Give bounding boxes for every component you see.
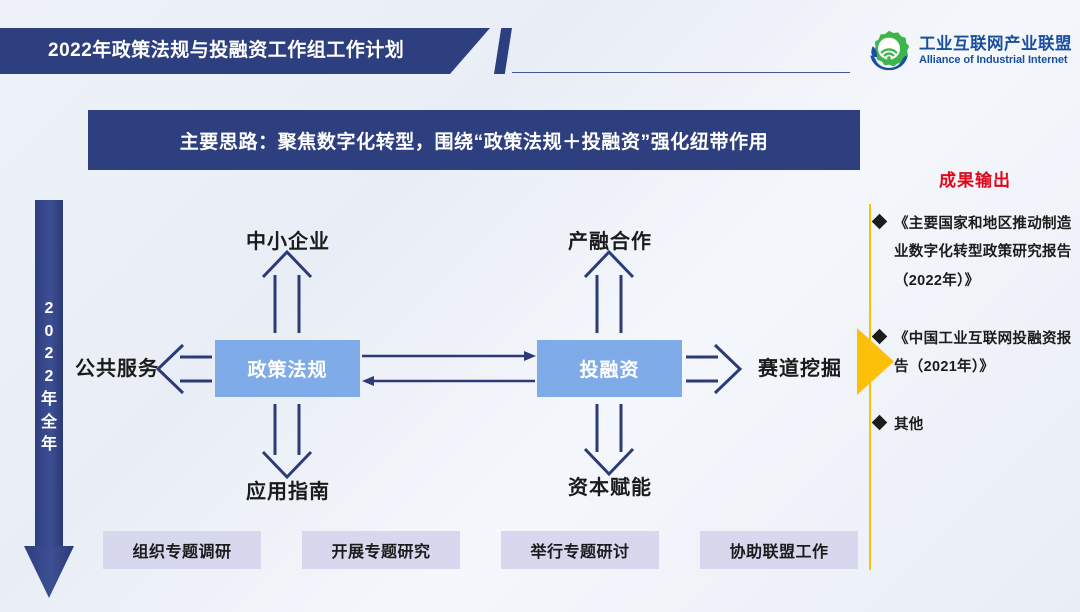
node-label-track: 赛道挖掘 xyxy=(744,352,856,381)
task-chip-label: 举行专题研讨 xyxy=(530,538,629,562)
output-item-text: 《中国工业互联网投融资报告（2021年）》 xyxy=(894,325,1076,382)
output-panel-title: 成果输出 xyxy=(874,166,1076,191)
arrow-invest-to-coop xyxy=(585,252,633,333)
diamond-bullet-icon xyxy=(872,214,888,230)
arrow-invest-to-policy xyxy=(362,376,535,386)
title-slash-accent xyxy=(494,28,512,74)
timeline-label: 2 0 2 2 年 全 年 xyxy=(35,298,63,457)
output-list-item[interactable]: 《中国工业互联网投融资报告（2021年）》 xyxy=(874,325,1076,382)
node-label-guide: 应用指南 xyxy=(217,475,359,504)
main-idea-text: 主要思路：聚焦数字化转型，围绕“政策法规＋投融资”强化纽带作用 xyxy=(180,127,769,154)
task-chip-label: 协助联盟工作 xyxy=(729,538,828,562)
diagram-box-policy[interactable]: 政策法规 xyxy=(215,340,360,397)
output-panel: 成果输出 《主要国家和地区推动制造业数字化转型政策研究报告（2022年）》 《中… xyxy=(874,166,1076,586)
logo-name-en: Alliance of Industrial Internet xyxy=(919,54,1072,67)
timeline-char: 0 xyxy=(35,321,63,344)
task-chip[interactable]: 举行专题研讨 xyxy=(501,531,659,569)
task-chip[interactable]: 协助联盟工作 xyxy=(700,531,858,569)
output-bullet-list: 《主要国家和地区推动制造业数字化转型政策研究报告（2022年）》 《中国工业互联… xyxy=(874,210,1076,470)
diagram-box-invest-label: 投融资 xyxy=(579,355,639,382)
header-divider-rule xyxy=(512,72,850,73)
arrow-invest-to-capital xyxy=(585,404,633,474)
page-title: 2022年政策法规与投融资工作组工作计划 xyxy=(48,28,404,74)
alliance-logo: 工业互联网产业联盟 Alliance of Industrial Interne… xyxy=(866,24,1066,78)
node-label-capital: 资本赋能 xyxy=(539,471,681,500)
output-list-item[interactable]: 其他 xyxy=(874,411,1076,439)
main-idea-banner: 主要思路：聚焦数字化转型，围绕“政策法规＋投融资”强化纽带作用 xyxy=(88,110,860,170)
timeline-arrow-head xyxy=(24,546,74,598)
vertical-divider-line xyxy=(869,204,871,570)
logo-wordmark: 工业互联网产业联盟 Alliance of Industrial Interne… xyxy=(919,35,1072,67)
task-chip[interactable]: 组织专题调研 xyxy=(103,531,261,569)
arrow-policy-to-sme xyxy=(263,252,311,333)
diamond-bullet-icon xyxy=(872,329,888,345)
timeline-char: 2 xyxy=(35,298,63,321)
gear-wifi-logo-icon xyxy=(866,28,912,74)
timeline-down-arrow-icon: 2 0 2 2 年 全 年 xyxy=(24,200,74,598)
timeline-char: 年 xyxy=(35,389,63,412)
node-label-sme: 中小企业 xyxy=(217,225,359,254)
slide-canvas: 2022年政策法规与投融资工作组工作计划 工业互联网产业联盟 Alliance … xyxy=(0,0,1080,612)
node-label-coop: 产融合作 xyxy=(539,225,681,254)
node-label-public-service: 公共服务 xyxy=(62,352,172,381)
timeline-char: 全 xyxy=(35,412,63,435)
task-chip-label: 组织专题调研 xyxy=(132,538,231,562)
output-item-text: 其他 xyxy=(894,411,924,439)
task-chip-label: 开展专题研究 xyxy=(331,538,430,562)
arrow-policy-to-invest xyxy=(362,351,536,361)
timeline-char: 年 xyxy=(35,434,63,457)
output-list-item[interactable]: 《主要国家和地区推动制造业数字化转型政策研究报告（2022年）》 xyxy=(874,210,1076,295)
arrow-invest-to-track xyxy=(686,345,740,393)
timeline-char: 2 xyxy=(35,366,63,389)
timeline-char: 2 xyxy=(35,343,63,366)
diagram-box-policy-label: 政策法规 xyxy=(247,355,327,382)
diamond-bullet-icon xyxy=(872,415,888,431)
output-item-text: 《主要国家和地区推动制造业数字化转型政策研究报告（2022年）》 xyxy=(894,210,1076,295)
task-chip[interactable]: 开展专题研究 xyxy=(302,531,460,569)
arrow-policy-to-guide xyxy=(263,404,311,477)
diagram-box-invest[interactable]: 投融资 xyxy=(537,340,682,397)
task-chip-row: 组织专题调研 开展专题研究 举行专题研讨 协助联盟工作 xyxy=(103,531,858,569)
logo-name-cn: 工业互联网产业联盟 xyxy=(919,35,1072,54)
